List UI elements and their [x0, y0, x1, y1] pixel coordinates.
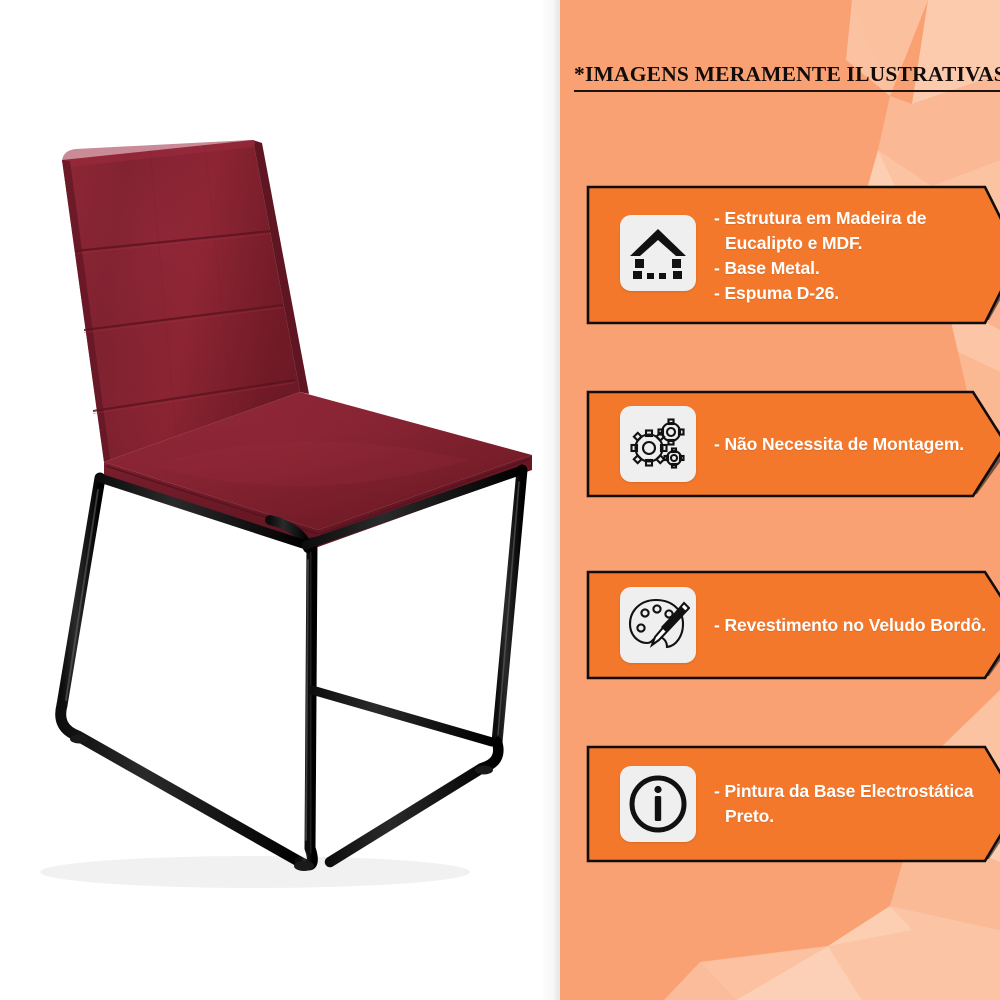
feature-icon-box — [620, 766, 696, 842]
feature-text: - Não Necessita de Montagem. — [714, 432, 974, 457]
feature-block-paint[interactable]: - Pintura da Base Electrostática Preto. — [586, 745, 1000, 863]
gears-icon — [626, 415, 690, 473]
feature-text: - Pintura da Base Electrostática Preto. — [714, 779, 984, 829]
feature-text: - Estrutura em Madeira de Eucalipto e MD… — [714, 206, 984, 306]
feature-line: Eucalipto e MDF. — [714, 231, 984, 256]
feature-icon-box — [620, 587, 696, 663]
product-image-panel — [0, 0, 560, 1000]
product-photo-chair — [0, 0, 560, 1000]
feature-line: - Não Necessita de Montagem. — [714, 432, 974, 457]
info-circle-icon — [627, 773, 689, 835]
feature-line: - Revestimento no Veludo Bordô. — [714, 613, 984, 638]
feature-line: Preto. — [714, 804, 984, 829]
feature-line: - Espuma D-26. — [714, 281, 984, 306]
feature-block-structure[interactable]: - Estrutura em Madeira de Eucalipto e MD… — [586, 185, 1000, 325]
feature-block-upholstery[interactable]: - Revestimento no Veludo Bordô. — [586, 570, 1000, 680]
infographic-canvas: *IMAGENS MERAMENTE ILUSTRATIVAS* — [0, 0, 1000, 1000]
paint-palette-icon — [626, 595, 690, 655]
page-title: *IMAGENS MERAMENTE ILUSTRATIVAS* — [574, 62, 1000, 92]
house-frame-icon — [628, 226, 688, 280]
feature-line: - Pintura da Base Electrostática — [714, 779, 984, 804]
feature-icon-box — [620, 406, 696, 482]
feature-block-assembly[interactable]: - Não Necessita de Montagem. — [586, 390, 1000, 498]
feature-icon-box — [620, 215, 696, 291]
chair-metal-base — [61, 470, 522, 865]
features-panel: *IMAGENS MERAMENTE ILUSTRATIVAS* — [560, 0, 1000, 1000]
feature-line: - Base Metal. — [714, 256, 984, 281]
feature-text: - Revestimento no Veludo Bordô. — [714, 613, 984, 638]
feature-line: - Estrutura em Madeira de — [714, 206, 984, 231]
panel-divider-shadow — [540, 0, 560, 1000]
